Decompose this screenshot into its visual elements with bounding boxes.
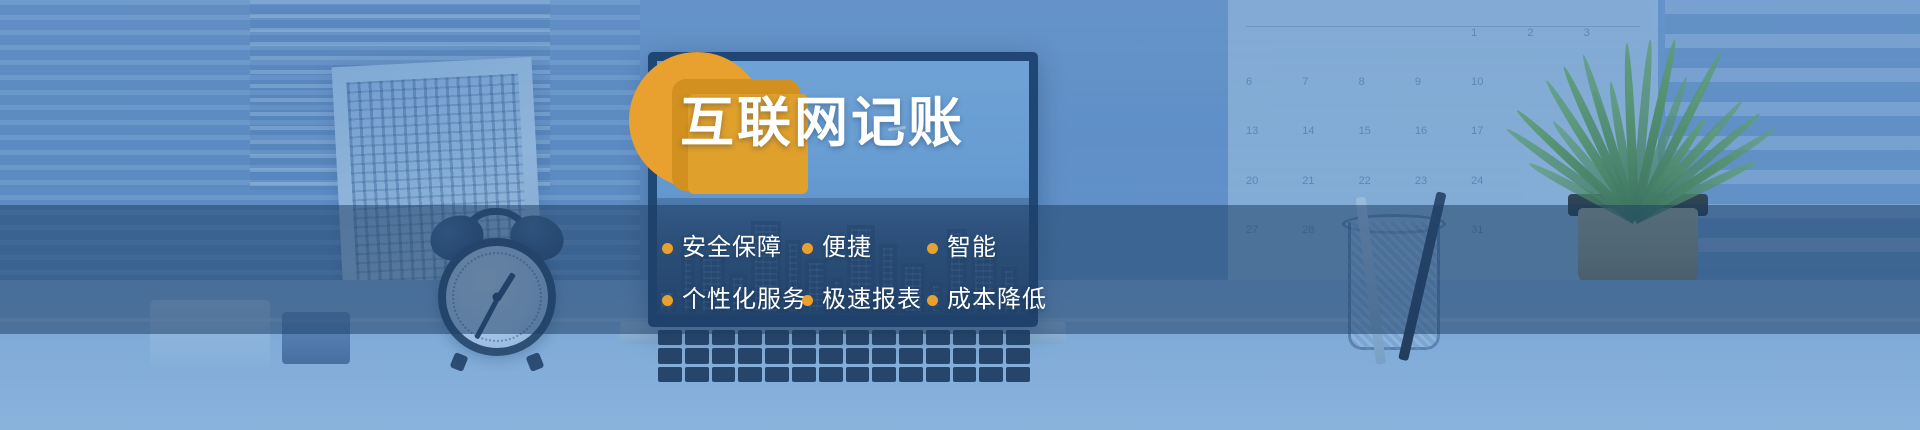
feature-label: 极速报表 — [822, 286, 922, 314]
feature-item[interactable]: 成本降低 — [927, 286, 1047, 314]
dot-icon — [927, 295, 938, 306]
feature-label: 安全保障 — [682, 234, 782, 262]
feature-item[interactable]: 个性化服务 — [662, 286, 802, 314]
feature-list: 安全保障便捷智能个性化服务极速报表成本降低 — [662, 222, 1082, 326]
feature-item[interactable]: 便捷 — [802, 234, 927, 262]
dot-icon — [802, 295, 813, 306]
feature-item[interactable]: 安全保障 — [662, 234, 802, 262]
dot-icon — [927, 243, 938, 254]
feature-label: 个性化服务 — [682, 286, 807, 314]
banner-title: 互联网记账 — [680, 93, 965, 153]
feature-label: 成本降低 — [947, 286, 1047, 314]
promo-banner: 123678910131415161720212223242728293031 — [0, 0, 1920, 430]
dot-icon — [802, 243, 813, 254]
banner-content: 互联网记账 安全保障便捷智能个性化服务极速报表成本降低 — [0, 0, 1920, 430]
feature-label: 便捷 — [822, 234, 872, 262]
feature-row: 安全保障便捷智能 — [662, 222, 1082, 274]
dot-icon — [662, 295, 673, 306]
feature-item[interactable]: 智能 — [927, 234, 1047, 262]
feature-label: 智能 — [947, 234, 997, 262]
feature-row: 个性化服务极速报表成本降低 — [662, 274, 1082, 326]
feature-item[interactable]: 极速报表 — [802, 286, 927, 314]
dot-icon — [662, 243, 673, 254]
